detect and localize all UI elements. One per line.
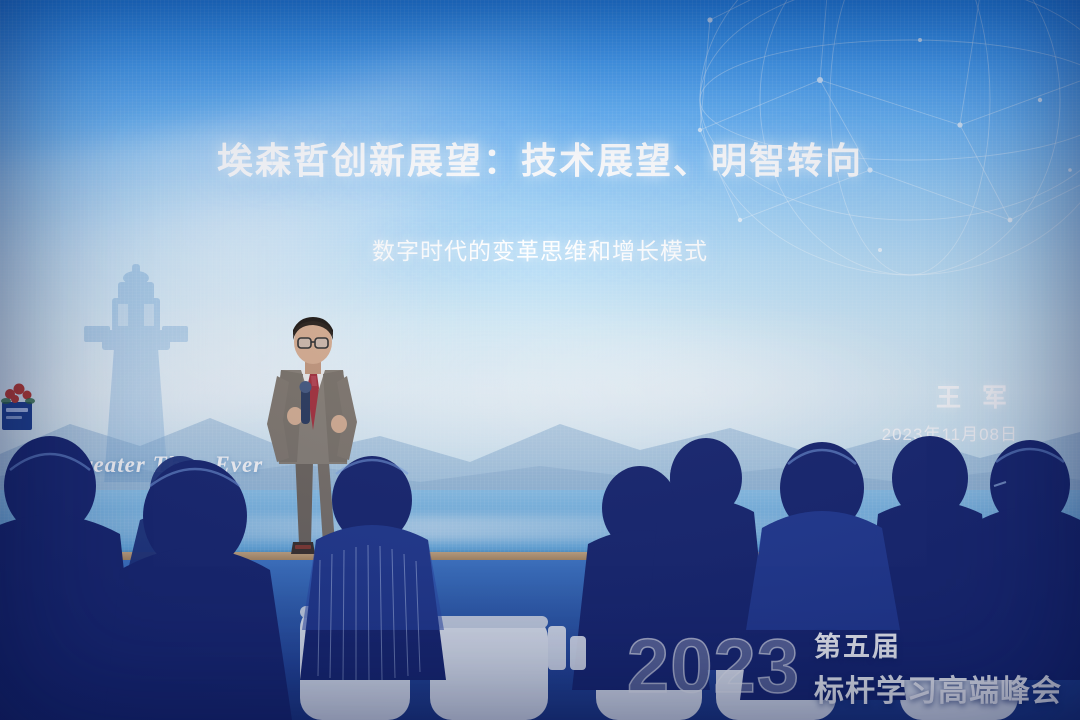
slide-subtitle: 数字时代的变革思维和增长模式 xyxy=(0,232,1080,266)
slide-title: 埃森哲创新展望：技术展望、明智转向 xyxy=(0,132,1080,184)
event-name: 标杆学习高端峰会 xyxy=(814,666,1062,710)
slide-speaker-name: 王 军 xyxy=(936,378,1014,414)
event-branding: 2023 第五届 标杆学习高端峰会 xyxy=(627,625,1062,710)
event-year: 2023 xyxy=(627,633,800,701)
event-edition: 第五届 xyxy=(814,625,1062,664)
conference-stage-photo: 埃森哲创新展望：技术展望、明智转向 数字时代的变革思维和增长模式 Greater… xyxy=(0,0,1080,720)
